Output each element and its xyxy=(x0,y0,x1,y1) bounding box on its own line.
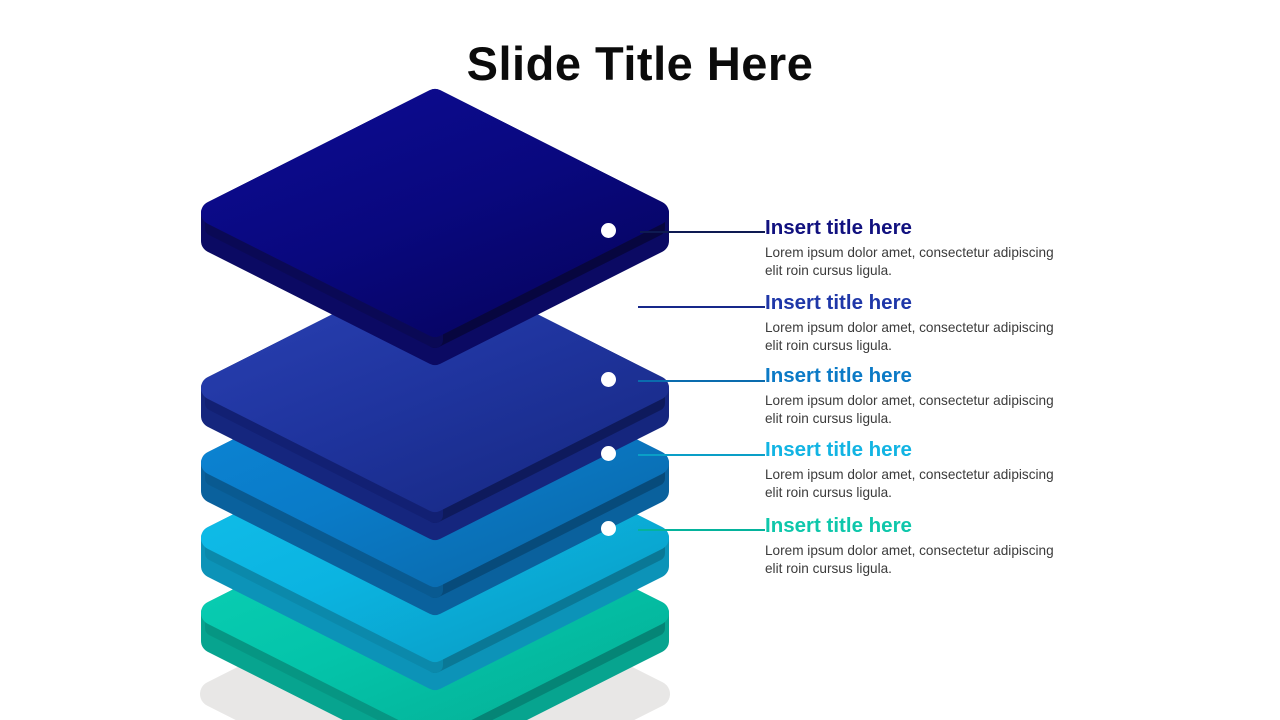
info-body-1: Lorem ipsum dolor amet, consectetur adip… xyxy=(765,244,1055,282)
info-title-5: Insert title here xyxy=(765,514,1055,538)
info-block-1: Insert title here Lorem ipsum dolor amet… xyxy=(765,216,1055,281)
connector-dot-5[interactable] xyxy=(601,521,616,536)
info-block-5: Insert title here Lorem ipsum dolor amet… xyxy=(765,514,1055,579)
info-body-4: Lorem ipsum dolor amet, consectetur adip… xyxy=(765,466,1055,504)
info-body-3: Lorem ipsum dolor amet, consectetur adip… xyxy=(765,392,1055,430)
layer-slab-1[interactable] xyxy=(213,101,657,353)
leader-line-4 xyxy=(638,454,765,456)
info-block-4: Insert title here Lorem ipsum dolor amet… xyxy=(765,438,1055,503)
connector-dot-2[interactable] xyxy=(601,298,616,313)
page-title: Slide Title Here xyxy=(0,38,1280,90)
info-block-3: Insert title here Lorem ipsum dolor amet… xyxy=(765,364,1055,429)
leader-line-2 xyxy=(638,306,765,308)
connector-dot-1[interactable] xyxy=(601,223,616,238)
info-title-4: Insert title here xyxy=(765,438,1055,462)
info-block-2: Insert title here Lorem ipsum dolor amet… xyxy=(765,291,1055,356)
layer-stack-diagram xyxy=(205,95,675,695)
connector-dot-4[interactable] xyxy=(601,446,616,461)
info-title-1: Insert title here xyxy=(765,216,1055,240)
info-title-2: Insert title here xyxy=(765,291,1055,315)
layer-stack-svg xyxy=(205,95,675,695)
leader-line-5 xyxy=(638,529,765,531)
leader-line-1 xyxy=(640,231,765,233)
leader-line-3 xyxy=(638,380,765,382)
info-body-2: Lorem ipsum dolor amet, consectetur adip… xyxy=(765,319,1055,357)
info-title-3: Insert title here xyxy=(765,364,1055,388)
slide-canvas: Slide Title Here xyxy=(0,0,1280,720)
connector-dot-3[interactable] xyxy=(601,372,616,387)
info-body-5: Lorem ipsum dolor amet, consectetur adip… xyxy=(765,542,1055,580)
